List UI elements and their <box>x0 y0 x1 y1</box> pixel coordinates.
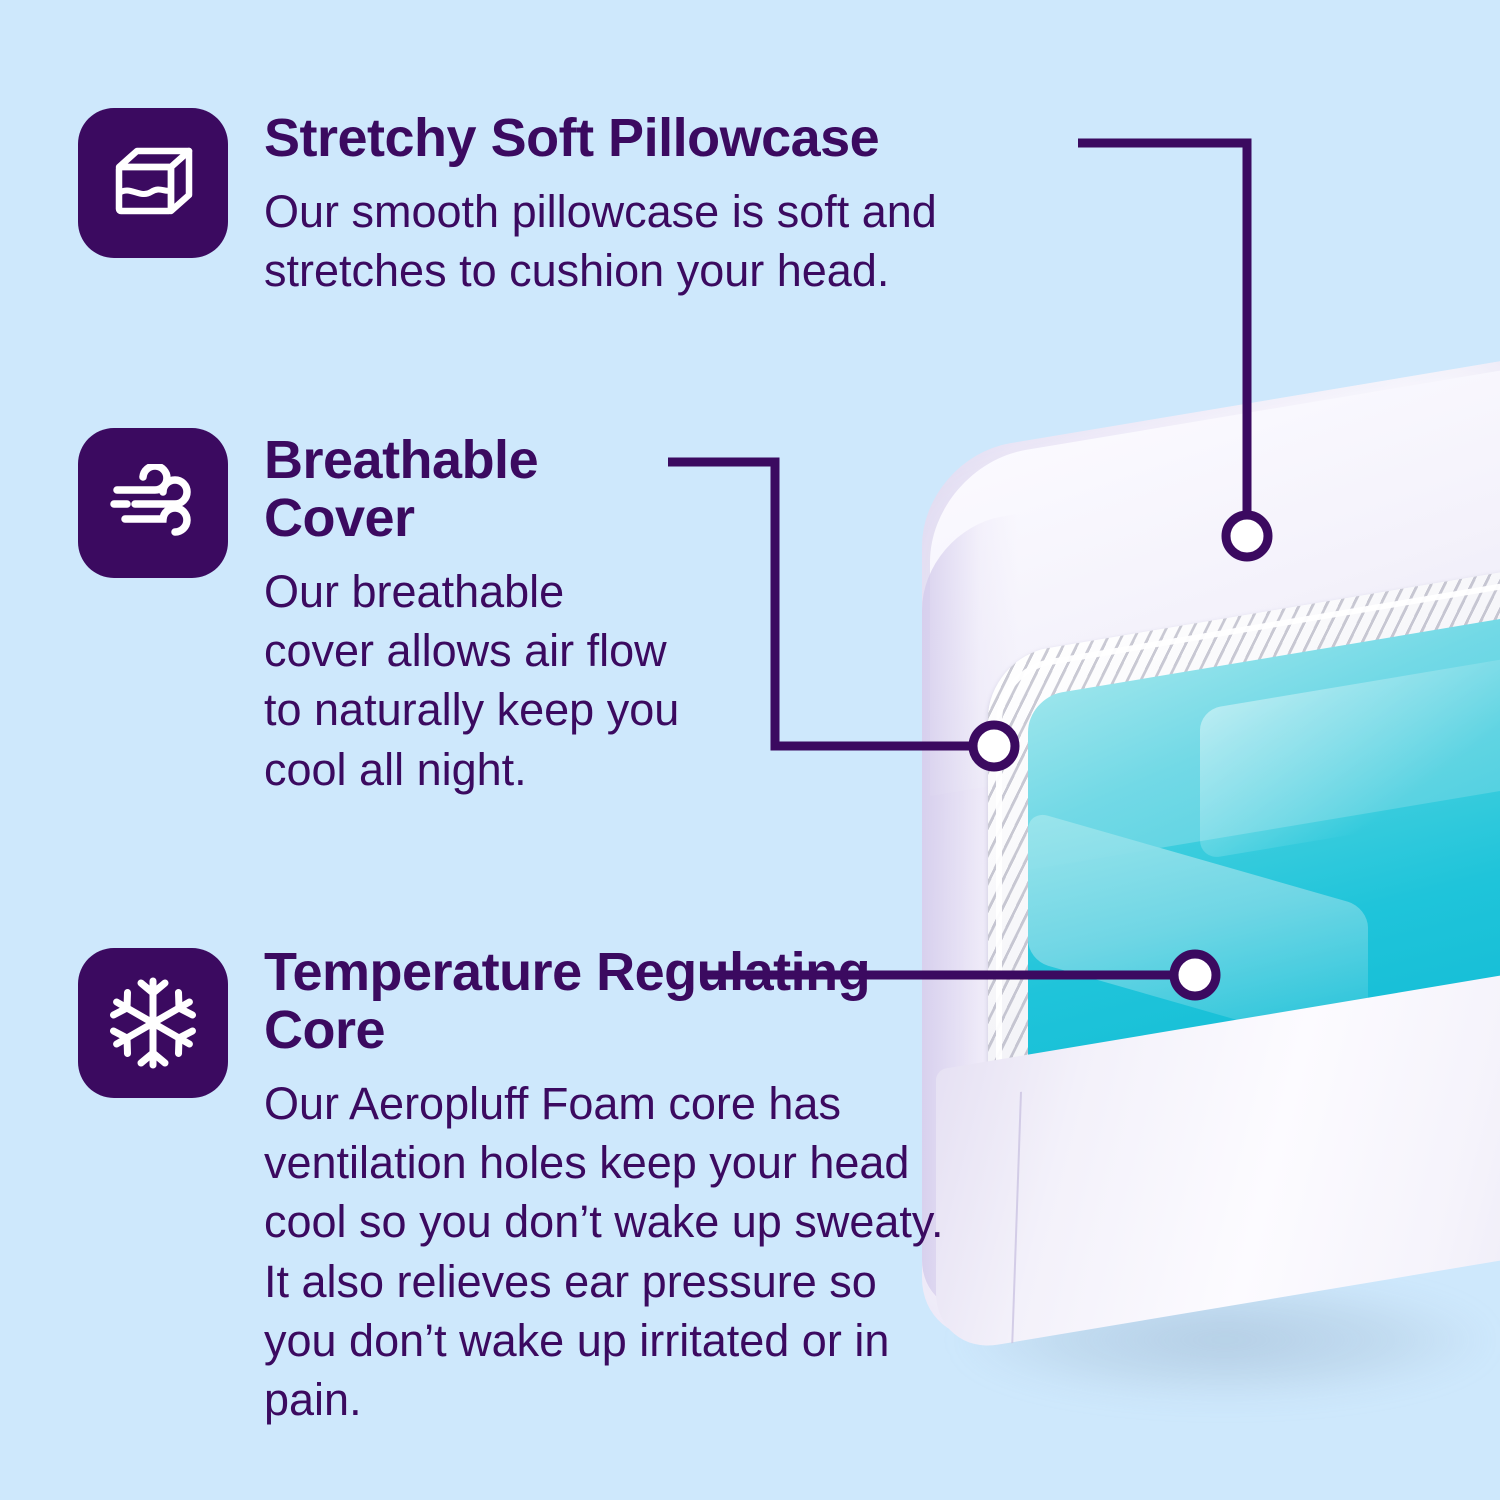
feature-1-description: Our smooth pillowcase is soft and stretc… <box>264 182 1074 301</box>
product-image <box>900 380 1500 1440</box>
feature-3-title: Temperature Regulating Core <box>264 944 954 1060</box>
foam-block-icon-container <box>78 108 228 258</box>
wind-icon-container <box>78 428 228 578</box>
wind-icon <box>105 464 201 542</box>
feature-2-description: Our breathable cover allows air flow to … <box>264 562 684 800</box>
feature-3-text-block: Temperature Regulating Core Our Aeropluf… <box>264 944 954 1430</box>
snowflake-icon-container <box>78 948 228 1098</box>
infographic-canvas: Stretchy Soft Pillowcase Our smooth pill… <box>0 0 1500 1500</box>
feature-2-text-block: Breathable Cover Our breathable cover al… <box>264 432 684 799</box>
feature-3-description: Our Aeropluff Foam core has ventilation … <box>264 1074 954 1430</box>
snowflake-icon <box>107 975 199 1071</box>
feature-2-title: Breathable Cover <box>264 432 684 548</box>
foam-block-icon <box>107 143 199 223</box>
feature-1-text-block: Stretchy Soft Pillowcase Our smooth pill… <box>264 110 1074 301</box>
feature-1-title: Stretchy Soft Pillowcase <box>264 110 1074 168</box>
